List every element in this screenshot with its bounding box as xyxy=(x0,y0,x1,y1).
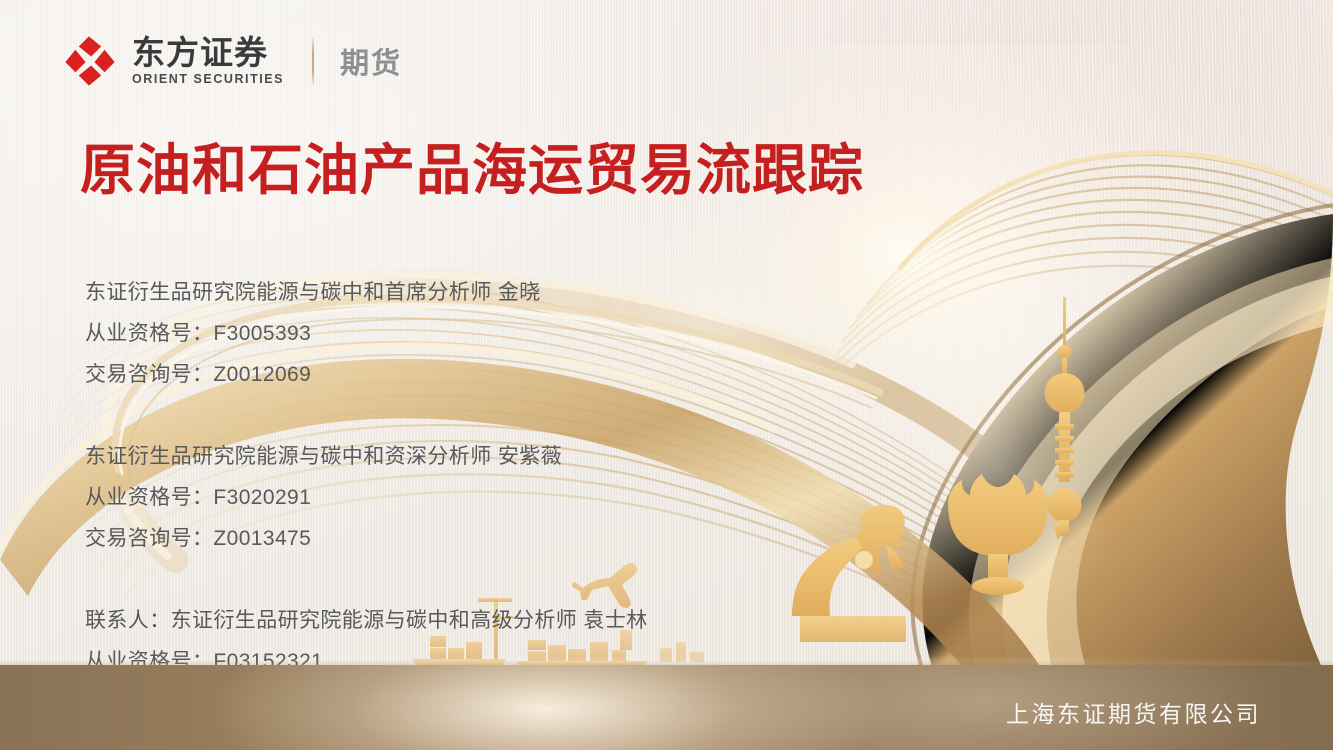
analyst-2-consulting: 交易咨询号：Z0013475 xyxy=(85,518,845,559)
analyst-info-block: 东证衍生品研究院能源与碳中和首席分析师 金晓 从业资格号：F3005393 交易… xyxy=(85,272,845,682)
analyst-1-qualification: 从业资格号：F3005393 xyxy=(85,313,845,354)
analyst-1-role: 东证衍生品研究院能源与碳中和首席分析师 金晓 xyxy=(85,272,845,313)
orient-securities-diamond-logo xyxy=(62,33,118,89)
analyst-block-spacer xyxy=(85,395,845,436)
analyst-1-consulting: 交易咨询号：Z0012069 xyxy=(85,354,845,395)
page-title: 原油和石油产品海运贸易流跟踪 xyxy=(80,141,864,200)
header-divider xyxy=(312,37,314,85)
presentation-slide: 东方证券 ORIENT SECURITIES 期货 原油和石油产品海运贸易流跟踪… xyxy=(0,0,1333,750)
brand-name-cn: 东方证券 xyxy=(132,36,284,71)
slide-header: 东方证券 ORIENT SECURITIES 期货 xyxy=(62,26,402,96)
analyst-2-qualification: 从业资格号：F3020291 xyxy=(85,477,845,518)
company-name: 上海东证期货有限公司 xyxy=(1006,695,1261,729)
contact-role: 联系人：东证衍生品研究院能源与碳中和高级分析师 袁士林 xyxy=(85,600,845,641)
contact-block-spacer xyxy=(85,559,845,600)
brand-name-en: ORIENT SECURITIES xyxy=(132,73,284,86)
business-line-label: 期货 xyxy=(340,40,402,82)
analyst-2-role: 东证衍生品研究院能源与碳中和资深分析师 安紫薇 xyxy=(85,436,845,477)
brand-wordmark: 东方证券 ORIENT SECURITIES xyxy=(132,36,284,85)
